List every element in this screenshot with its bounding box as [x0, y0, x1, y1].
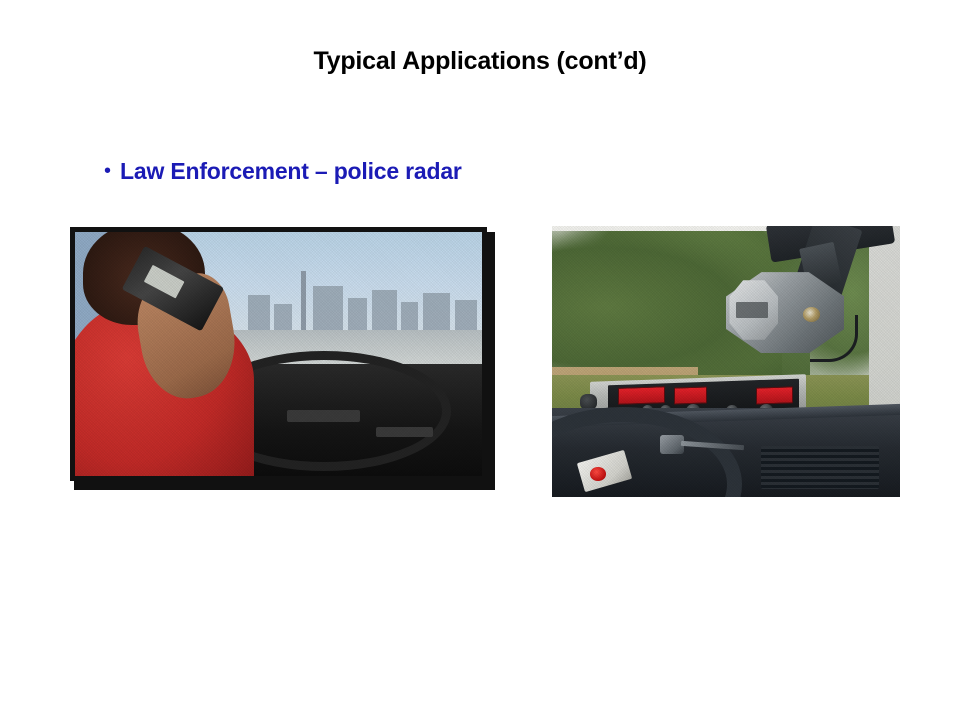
bullet-marker-icon: • [104, 161, 111, 181]
slide-canvas: Typical Applications (cont’d) • Law Enfo… [0, 0, 960, 720]
led-display-patrol-speed [674, 387, 707, 405]
image-right-scene [552, 226, 900, 497]
page-title: Typical Applications (cont’d) [0, 48, 960, 76]
bullet-list-item: • Law Enforcement – police radar [104, 158, 462, 185]
device-screen [144, 264, 185, 298]
image-police-radar-dashboard [552, 226, 900, 497]
image-left-frame [70, 227, 487, 481]
bullet-item-label: Law Enforcement – police radar [120, 158, 462, 185]
city-skyline [238, 266, 482, 329]
radar-label-plate [736, 302, 767, 318]
dashboard-control [376, 427, 433, 437]
image-left-scene [75, 232, 482, 476]
led-display-target-speed [618, 386, 665, 405]
radar-trigger-button[interactable] [590, 467, 606, 481]
windshield-pillar [869, 226, 900, 421]
dashboard-air-vent [761, 446, 879, 489]
led-display-locked-speed [756, 387, 793, 405]
image-officer-with-radar-gun [70, 227, 495, 490]
dashboard-control [287, 410, 360, 422]
